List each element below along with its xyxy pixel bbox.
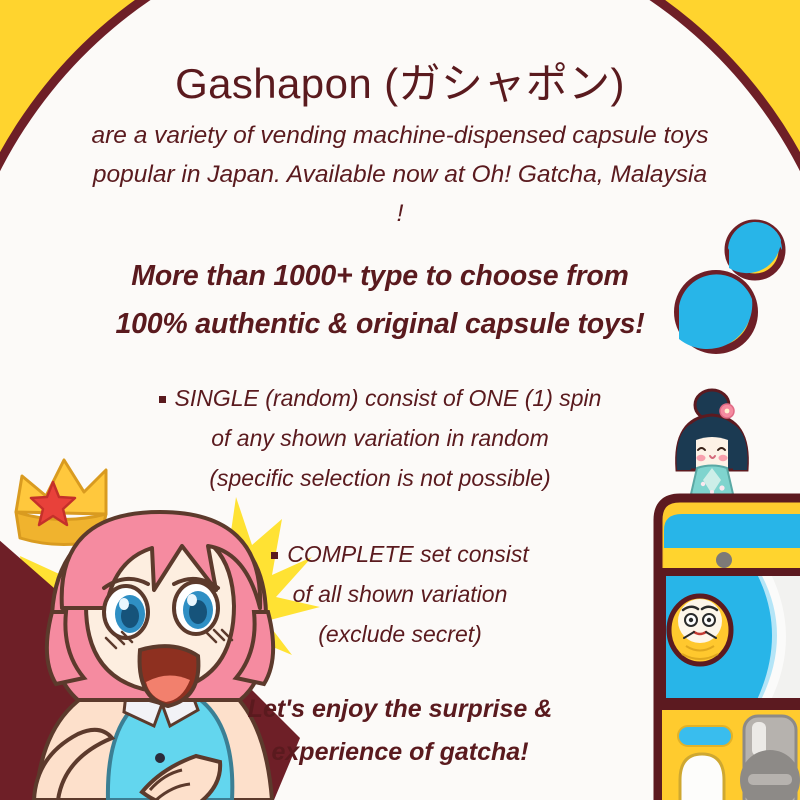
bullet-complete-line-3: (exclude secret) <box>140 614 660 654</box>
bullet-complete-line-2: of all shown variation <box>140 574 660 614</box>
bullet-square-icon <box>271 552 278 559</box>
bullet-complete: COMPLETE set consist of all shown variat… <box>140 534 660 654</box>
closing-line-2: experience of gatcha! <box>120 731 680 774</box>
bullet-single-line-3: (specific selection is not possible) <box>100 458 660 498</box>
bullet-square-icon <box>159 396 166 403</box>
bullet-single: SINGLE (random) consist of ONE (1) spin … <box>100 378 660 498</box>
closing-line-1: Let's enjoy the surprise & <box>120 688 680 731</box>
bullet-single-line-1: SINGLE (random) consist of ONE (1) spin <box>100 378 660 418</box>
page-title: Gashapon (ガシャポン) <box>0 58 800 110</box>
poster-text-content: Gashapon (ガシャポン) are a variety of vendin… <box>0 0 800 800</box>
headline-block: More than 1000+ type to choose from 100%… <box>40 252 720 348</box>
poster-canvas: Gashapon (ガシャポン) are a variety of vendin… <box>0 0 800 800</box>
headline-line-2: 100% authentic & original capsule toys! <box>40 300 720 348</box>
bullet-complete-line-1: COMPLETE set consist <box>140 534 660 574</box>
closing-block: Let's enjoy the surprise & experience of… <box>120 688 680 774</box>
bullet-single-text-1: SINGLE (random) consist of ONE (1) spin <box>175 385 602 411</box>
bullet-complete-text-1: COMPLETE set consist <box>287 541 529 567</box>
intro-paragraph: are a variety of vending machine-dispens… <box>90 116 710 233</box>
bullet-single-line-2: of any shown variation in random <box>100 418 660 458</box>
headline-line-1: More than 1000+ type to choose from <box>40 252 720 300</box>
